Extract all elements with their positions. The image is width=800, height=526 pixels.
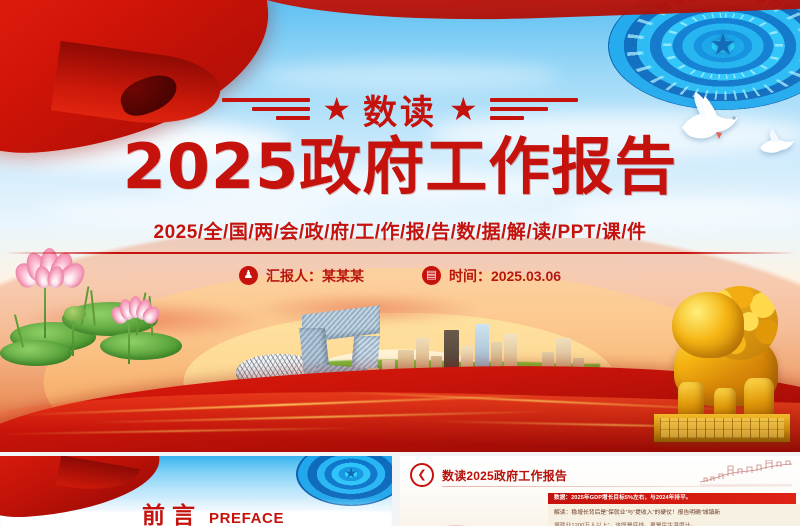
preface-title: 前言 PREFACE bbox=[142, 496, 284, 526]
slide-preview-window: ★ bbox=[0, 0, 800, 526]
callout-line-2: 增就业1200万人以上”，这既是底线，更是民生温度计。 bbox=[554, 520, 795, 526]
golden-guardian-lion-icon bbox=[648, 278, 794, 452]
callout-band: 数据：2025年GDP增长目标5%左右，与2024年持平。 bbox=[548, 493, 796, 504]
callout-body: 解读：稳增长背后是“保就业”与“提收入”的硬仗！报告明确“城镇新 增就业1200… bbox=[548, 504, 800, 526]
page-title: 2025政府工作报告 bbox=[0, 134, 800, 201]
chevron-left-icon[interactable]: ❮ bbox=[410, 463, 434, 487]
presenter-label: 汇报人：某某某 bbox=[266, 266, 364, 286]
subtitle: 2025/全/国/两/会/政/府/工/作/报/告/数/据/解/读/PPT/课/件 bbox=[0, 217, 800, 244]
calendar-icon: ▤ bbox=[422, 266, 441, 285]
thumbnail-data-slide[interactable]: ❮ 数读2025政府工作报告 bbox=[400, 456, 800, 526]
person-icon: ♟ bbox=[239, 266, 258, 285]
data-slide-title: 数读2025政府工作报告 bbox=[442, 467, 567, 484]
presenter-info: ♟ 汇报人：某某某 bbox=[239, 266, 364, 286]
date-label: 时间：2025.03.06 bbox=[449, 266, 561, 286]
title-block: ★ 数读 ★ 2025政府工作报告 2025/全/国/两/会/政/府/工/作/报… bbox=[0, 86, 800, 286]
callout-box: 数据：2025年GDP增长目标5%左右，与2024年持平。 解读：稳增长背后是“… bbox=[548, 493, 800, 526]
deco-lines-left bbox=[222, 98, 310, 120]
callout-line-1: 解读：稳增长背后是“保就业”与“提收入”的硬仗！报告明确“城镇新 bbox=[554, 507, 795, 520]
ceiling-star-icon: ★ bbox=[706, 28, 740, 62]
main-slide[interactable]: ★ bbox=[0, 0, 800, 452]
eyebrow-row: ★ 数读 ★ bbox=[0, 86, 800, 132]
date-info: ▤ 时间：2025.03.06 bbox=[422, 266, 561, 286]
preface-title-en: PREFACE bbox=[209, 510, 284, 526]
great-wall-icon bbox=[698, 460, 794, 486]
divider bbox=[4, 252, 796, 254]
deco-lines-right bbox=[490, 98, 578, 120]
star-icon-right: ★ bbox=[449, 93, 478, 125]
meta-row: ♟ 汇报人：某某某 ▤ 时间：2025.03.06 bbox=[0, 266, 800, 286]
decorative-arc bbox=[400, 492, 522, 526]
star-icon-left: ★ bbox=[322, 93, 351, 125]
preface-title-cn: 前言 bbox=[142, 496, 202, 526]
eyebrow-label: 数读 bbox=[363, 85, 437, 134]
ceiling-star-icon-small: ★ bbox=[344, 466, 357, 481]
thumbnail-preface[interactable]: ★ 前言 PREFACE bbox=[0, 456, 392, 526]
header-underline bbox=[442, 486, 790, 487]
thumbnail-strip: ★ 前言 PREFACE ❮ 数读2025政府工作报告 bbox=[0, 452, 800, 526]
